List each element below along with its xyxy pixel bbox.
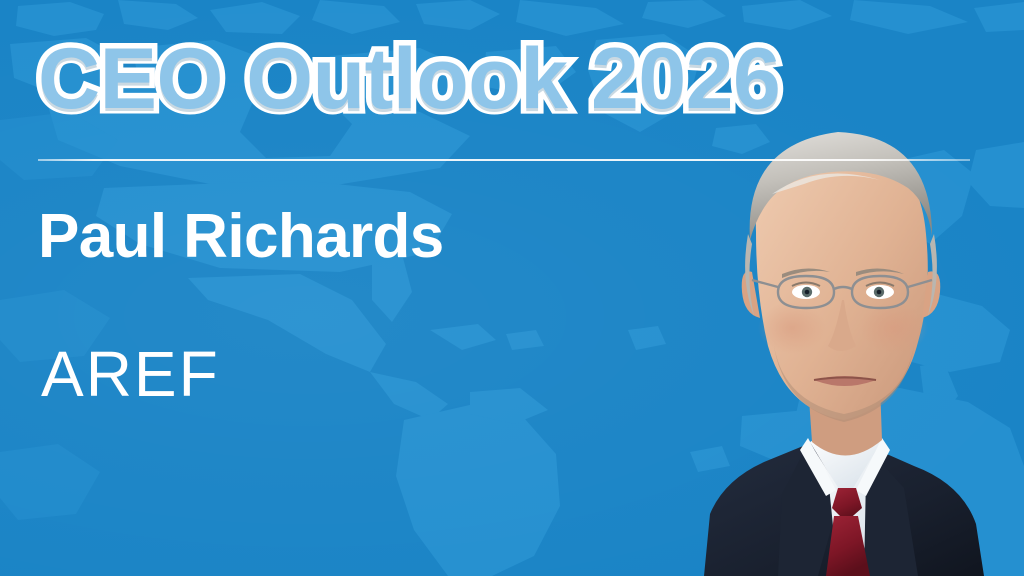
speaker-portrait <box>632 84 1024 576</box>
title-slide: CEO Outlook 2026 CEO Outlook 2026 Paul R… <box>0 0 1024 576</box>
speaker-organization: AREF <box>41 342 220 406</box>
divider <box>38 159 970 161</box>
page-title-fill: CEO Outlook 2026 <box>38 36 780 124</box>
page-title: CEO Outlook 2026 CEO Outlook 2026 <box>38 36 780 124</box>
speaker-name: Paul Richards <box>38 206 444 268</box>
